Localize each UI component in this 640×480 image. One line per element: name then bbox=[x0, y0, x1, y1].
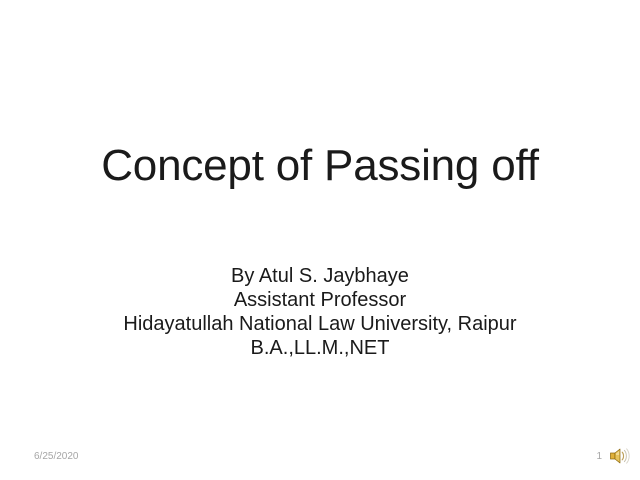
subtitle-line-designation: Assistant Professor bbox=[64, 288, 576, 312]
title-placeholder: Concept of Passing off bbox=[64, 140, 576, 192]
subtitle-line-author: By Atul S. Jaybhaye bbox=[64, 264, 576, 288]
subtitle-line-institution: Hidayatullah National Law University, Ra… bbox=[64, 312, 576, 336]
footer-date: 6/25/2020 bbox=[34, 450, 79, 464]
page-title: Concept of Passing off bbox=[64, 140, 576, 192]
footer-slide-number: 1 bbox=[588, 450, 602, 464]
subtitle-placeholder: By Atul S. Jaybhaye Assistant Professor … bbox=[64, 264, 576, 360]
slide-canvas: Concept of Passing off By Atul S. Jaybha… bbox=[0, 0, 640, 480]
subtitle-line-qualifications: B.A.,LL.M.,NET bbox=[64, 336, 576, 360]
speaker-audio-icon[interactable] bbox=[609, 446, 631, 466]
